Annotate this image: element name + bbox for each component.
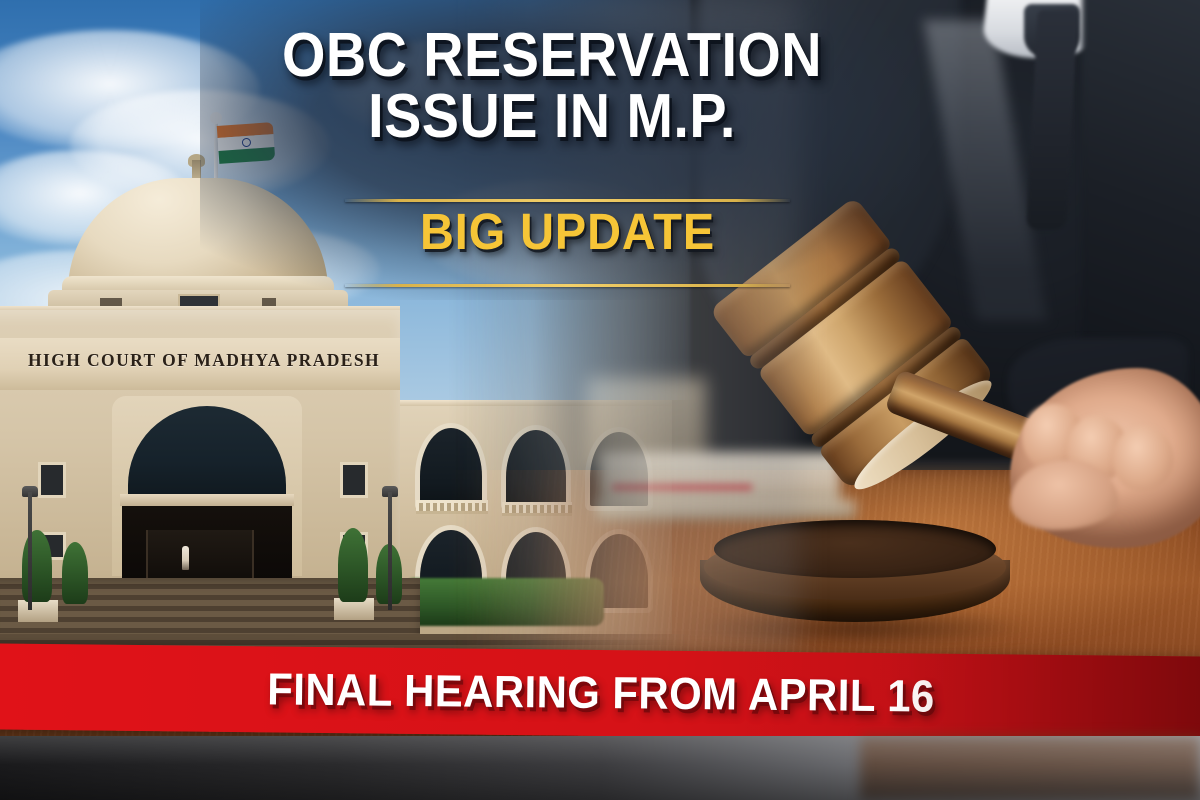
- shrub: [22, 530, 52, 602]
- lamp-post: [388, 492, 392, 610]
- entrance-door: [146, 530, 254, 580]
- planter: [18, 600, 58, 622]
- balustrade: [416, 500, 488, 514]
- shrub: [62, 542, 88, 604]
- gold-rule-top: [345, 199, 790, 202]
- balustrade: [502, 502, 572, 516]
- flag-pole-knob: [210, 112, 222, 124]
- window: [340, 462, 368, 498]
- banner-shade: [886, 653, 1200, 743]
- person-figure: [182, 546, 189, 570]
- news-graphic-poster: HIGH COURT OF MADHYA PRADESH OBC RESERVA…: [0, 0, 1200, 800]
- bottom-banner: FINAL HEARING FROM APRIL 16: [0, 643, 1200, 742]
- lamp-post: [28, 492, 32, 610]
- headline-line-1: OBC RESERVATION: [282, 21, 822, 90]
- courthouse-name-text: HIGH COURT OF MADHYA PRADESH: [28, 350, 388, 378]
- page-title: OBC RESERVATION ISSUE IN M.P.: [255, 26, 849, 148]
- hedge: [404, 578, 604, 626]
- gold-rule-bottom: [345, 284, 790, 287]
- headline-line-2: ISSUE IN M.P.: [255, 87, 849, 148]
- subheadline: BIG UPDATE: [363, 206, 772, 257]
- entrance-lintel: [120, 494, 294, 506]
- shrub: [338, 528, 368, 602]
- finger: [1112, 426, 1174, 492]
- footer-sheen: [0, 736, 1200, 800]
- window: [38, 462, 66, 498]
